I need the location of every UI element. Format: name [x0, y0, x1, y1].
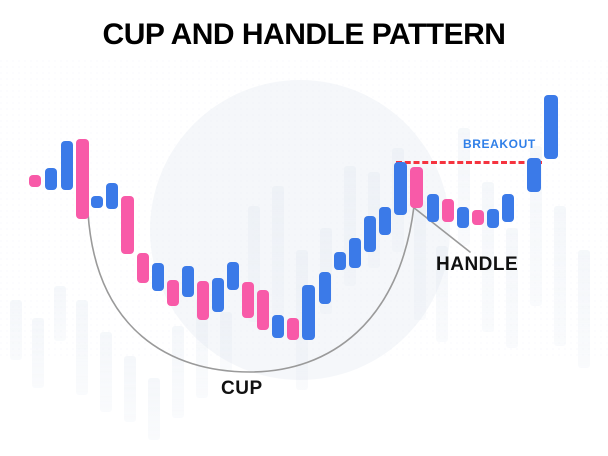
candle-2-up [45, 168, 57, 190]
candle-7-down [121, 196, 134, 254]
candle-21-up [334, 252, 346, 270]
candle-29-up [457, 207, 469, 228]
candle-16-down [257, 290, 269, 330]
candle-15-down [242, 282, 254, 318]
candle-8-down [137, 253, 149, 283]
candle-26-down [410, 167, 423, 208]
candle-19-up [302, 285, 315, 340]
candle-13-up [212, 278, 224, 312]
candle-24-up [379, 207, 391, 235]
candlestick-series [0, 0, 608, 456]
cup-and-handle-chart: CUP AND HANDLE PATTERN CUP HANDLE BREAKO… [0, 0, 608, 456]
candle-20-up [319, 272, 331, 304]
candle-6-up [106, 183, 118, 209]
candle-11-up [182, 266, 194, 297]
candle-14-up [227, 262, 239, 290]
candle-10-down [167, 280, 179, 306]
handle-label: HANDLE [436, 254, 518, 276]
candle-3-up [61, 141, 73, 190]
candle-33-up [527, 158, 541, 192]
candle-25-up [394, 162, 407, 215]
candle-5-up [91, 196, 103, 208]
cup-label: CUP [221, 378, 263, 400]
candle-34-up [544, 95, 558, 159]
breakout-label: BREAKOUT [463, 137, 536, 151]
candle-9-up [152, 263, 164, 291]
candle-17-up [272, 315, 284, 338]
candle-30-down [472, 210, 484, 225]
candle-28-down [442, 199, 454, 222]
candle-12-down [197, 281, 209, 320]
candle-1-down [29, 175, 41, 187]
candle-22-up [349, 238, 361, 268]
candle-32-up [502, 194, 514, 222]
candle-23-up [364, 216, 376, 252]
candle-4-down [76, 139, 89, 219]
candle-18-down [287, 318, 299, 340]
candle-31-up [487, 209, 499, 228]
candle-27-up [427, 194, 439, 222]
